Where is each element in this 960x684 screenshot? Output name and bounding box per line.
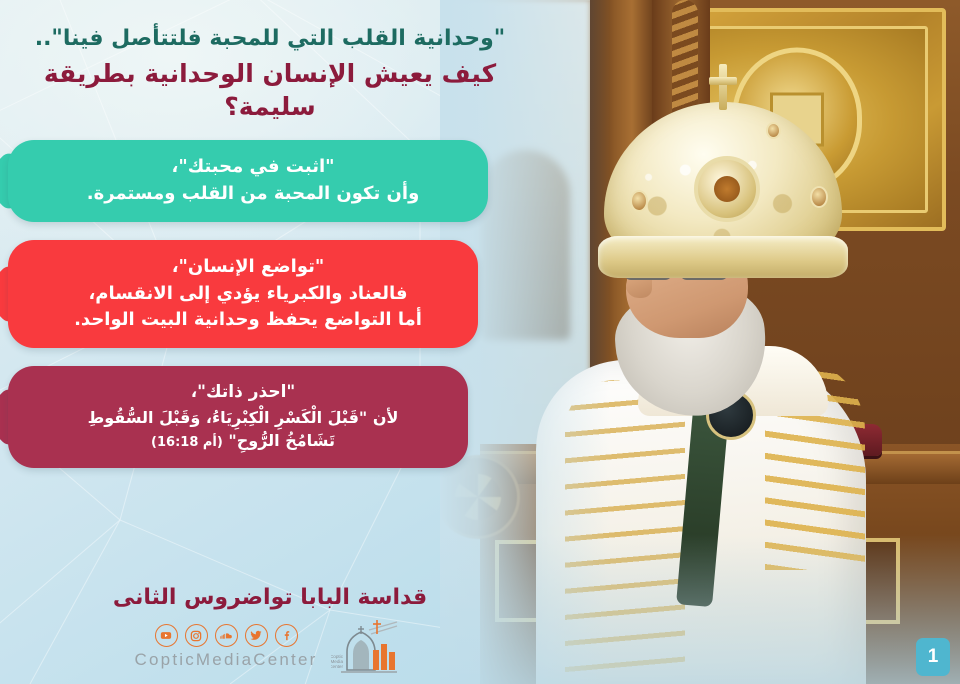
title-line-2: كيف يعيش الإنسان الوحدانية بطريقة سليمة؟: [0, 57, 540, 123]
soundcloud-icon[interactable]: [215, 624, 238, 647]
point-card-3: "احذر ذاتك"، لأن "قَبْلَ الْكَسْرِ الْكِ…: [8, 366, 468, 468]
svg-text:Center: Center: [331, 664, 343, 669]
point-3-reference: (أم 16:18): [151, 435, 223, 450]
point-2-title: "تواضع الإنسان"،: [48, 254, 448, 280]
point-3-title: "احذر ذاتك"،: [48, 380, 438, 405]
page-number-badge: 1: [916, 638, 950, 676]
title-line-1: "وحدانية القلب التي للمحبة فلتتأصل فينا"…: [0, 24, 540, 53]
point-card-2: "تواضع الإنسان"، فالعناد والكبرياء يؤدي …: [8, 240, 478, 348]
point-3-verse-text: تَشَامُخُ الرُّوحِ": [228, 431, 335, 450]
coptic-media-center-logo: Coptic Media Center: [331, 618, 405, 676]
points-list: "اثبت في محبتك"، وأن تكون المحبة من القل…: [0, 140, 540, 486]
footer: قداسة البابا تواضروس الثانى: [0, 585, 540, 676]
point-1-title: "اثبت في محبتك"،: [48, 154, 458, 180]
point-2-body-line-1: فالعناد والكبرياء يؤدي إلى الانقسام،: [48, 281, 448, 307]
author-name: قداسة البابا تواضروس الثانى: [0, 585, 540, 610]
point-3-verse-line-1: لأن "قَبْلَ الْكَسْرِ الْكِبْرِيَاءُ، وَ…: [48, 406, 438, 429]
point-2-body-line-2: أما التواضع يحفظ وحدانية البيت الواحد.: [48, 307, 448, 333]
cross-icon: [706, 64, 740, 110]
brand-name: CopticMediaCenter: [135, 650, 318, 670]
point-1-body: وأن تكون المحبة من القلب ومستمرة.: [48, 181, 458, 207]
social-links[interactable]: [155, 624, 298, 647]
facebook-icon[interactable]: [275, 624, 298, 647]
page-title: "وحدانية القلب التي للمحبة فلتتأصل فينا"…: [0, 24, 540, 123]
youtube-icon[interactable]: [155, 624, 178, 647]
point-3-verse-line-2: تَشَامُخُ الرُّوحِ" (أم 16:18): [48, 429, 438, 453]
poster-canvas: "وحدانية القلب التي للمحبة فلتتأصل فينا"…: [0, 0, 960, 684]
content-column: "وحدانية القلب التي للمحبة فلتتأصل فينا"…: [0, 0, 560, 684]
twitter-icon[interactable]: [245, 624, 268, 647]
instagram-icon[interactable]: [185, 624, 208, 647]
point-card-1: "اثبت في محبتك"، وأن تكون المحبة من القل…: [8, 140, 488, 222]
